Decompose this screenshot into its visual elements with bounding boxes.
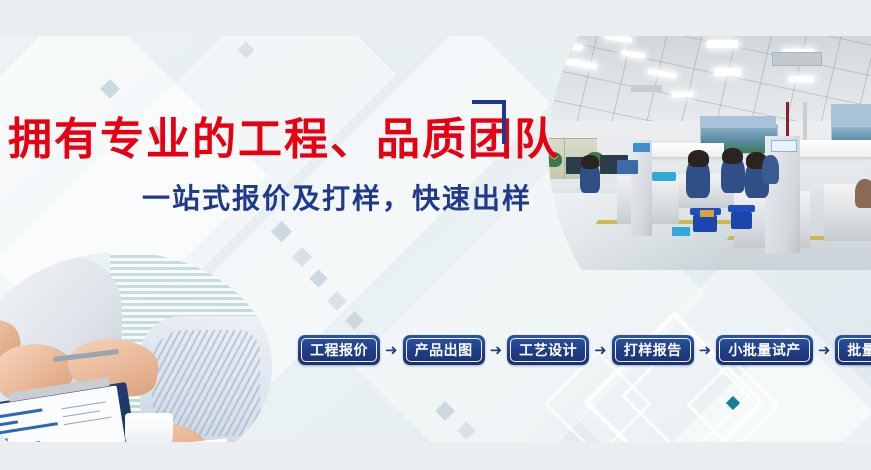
process-step-1[interactable]: 工程报价 <box>298 335 380 365</box>
process-step-label: 小批量试产 <box>719 338 810 362</box>
process-flow: 工程报价➜产品出图➜工艺设计➜打样报告➜小批量试产➜批量量产 <box>298 332 871 368</box>
process-step-label: 工程报价 <box>301 338 377 362</box>
flow-arrow-icon: ➜ <box>818 343 831 358</box>
flow-arrow-icon: ➜ <box>699 343 712 358</box>
process-step-label: 打样报告 <box>615 338 691 362</box>
flow-arrow-icon: ➜ <box>490 343 503 358</box>
process-step-label: 产品出图 <box>406 338 482 362</box>
meeting-photo-image <box>0 252 272 470</box>
flow-arrow-icon: ➜ <box>594 343 607 358</box>
process-step-4[interactable]: 打样报告 <box>612 335 694 365</box>
promo-banner: 拥有专业的工程、品质团队 一站式报价及打样，快速出样 工程报价➜产品出图➜工艺设… <box>0 0 871 470</box>
process-step-label: 工艺设计 <box>510 338 586 362</box>
flow-arrow-icon: ➜ <box>385 343 398 358</box>
process-step-3[interactable]: 工艺设计 <box>507 335 589 365</box>
process-step-5[interactable]: 小批量试产 <box>716 335 813 365</box>
process-step-6[interactable]: 批量量产 <box>835 335 871 365</box>
office-photo-image <box>528 30 871 270</box>
process-step-2[interactable]: 产品出图 <box>403 335 485 365</box>
corner-bracket-decoration <box>472 100 506 144</box>
process-step-label: 批量量产 <box>838 338 871 362</box>
bottom-band <box>0 442 871 470</box>
office-photo <box>528 30 871 270</box>
meeting-photo <box>0 252 272 470</box>
top-band <box>0 0 871 36</box>
page-subtitle: 一站式报价及打样，快速出样 <box>142 185 532 213</box>
